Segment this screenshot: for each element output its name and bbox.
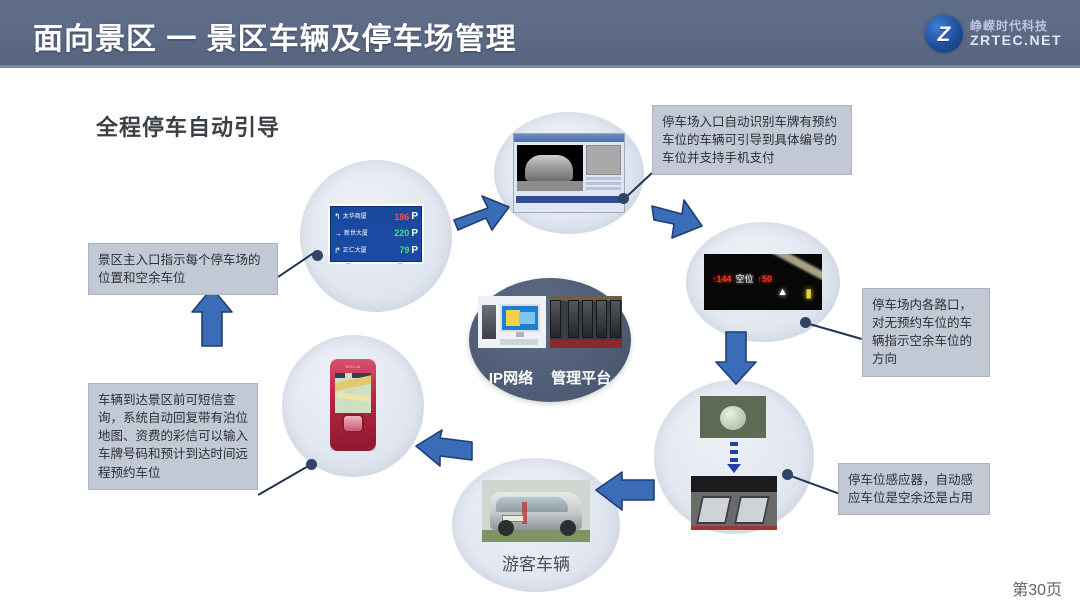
- sensor-dome-photo: [700, 396, 766, 438]
- arrow-phone-to-sign: [190, 286, 234, 348]
- ceiling-sensor-image: [700, 396, 766, 438]
- arrow-led-to-sensor: [714, 330, 758, 386]
- led-text-row: ↑144 空位 ↑50: [712, 272, 772, 285]
- pc-monitor: [500, 304, 540, 332]
- company-logo: Z 峥嵘时代科技 ZRTEC.NET: [925, 12, 1062, 56]
- floor-stripe: [691, 526, 777, 530]
- logo-company-en: ZRTEC.NET: [970, 33, 1062, 48]
- lpr-side-panel: [586, 145, 621, 191]
- hub-label-platform: 管理平台: [551, 367, 611, 388]
- lpr-body: [514, 142, 624, 194]
- sign-row-label: 太华商厦: [343, 214, 367, 220]
- center-hub: IP网络 管理平台: [469, 278, 631, 402]
- parking-slots-photo: [691, 476, 777, 530]
- parking-slot: [734, 496, 770, 524]
- page-title: 面向景区 一 景区车辆及停车场管理: [33, 14, 517, 58]
- logo-text-block: 峥嵘时代科技 ZRTEC.NET: [970, 20, 1062, 47]
- hub-label-network: IP网络: [489, 367, 533, 388]
- section-title: 全程停车自动引导: [96, 110, 280, 142]
- logo-letter: Z: [925, 15, 963, 53]
- arrow-car-to-phone: [414, 428, 474, 472]
- sign-p-icon: P: [411, 212, 418, 222]
- hub-labels: IP网络 管理平台: [469, 367, 631, 388]
- server-rack: [550, 300, 561, 338]
- leader-line-sms: [258, 465, 309, 495]
- sign-row: ↱ 正仁大厦 79 P: [334, 244, 418, 258]
- leader-dot-main-entry: [312, 250, 323, 261]
- page-number: 第30页: [1012, 576, 1062, 600]
- lpr-statusbar: [516, 196, 622, 203]
- led-left-value: ↑144: [712, 274, 732, 284]
- node-led-display: ↑144 空位 ↑50 ▲ ▮: [686, 222, 840, 342]
- leader-dot-entry: [618, 193, 629, 204]
- sign-arrow-icon: →: [334, 230, 342, 238]
- pc-keyboard: [500, 339, 538, 345]
- lpr-car-shape: [525, 155, 573, 181]
- slide-header: 面向景区 一 景区车辆及停车场管理 Z 峥嵘时代科技 ZRTEC.NET: [0, 0, 1080, 68]
- phone-screen: [335, 373, 371, 413]
- leader-dot-sensor: [782, 469, 793, 480]
- lpr-video-feed: [517, 145, 583, 191]
- node-parking-sign: ↰ 太华商厦 186 P → 新世大厦 220 P ↱ 正仁大厦 79: [300, 160, 452, 312]
- parking-slots-image: [691, 476, 777, 530]
- car-rear-window: [496, 497, 568, 512]
- callout-space-sensor: 停车位感应器，自动感应车位是空余还是占用: [838, 463, 990, 515]
- lpr-field-line: [586, 187, 621, 190]
- map-road: [337, 392, 371, 403]
- exit-sign-yellow-icon: ▮: [805, 286, 812, 300]
- sign-arrow-icon: ↱: [334, 247, 341, 255]
- logo-mark-icon: Z: [925, 15, 963, 53]
- car-wheel: [498, 520, 514, 536]
- sign-arrow-icon: ↰: [334, 213, 341, 221]
- arrow-sign-to-lpr: [452, 186, 512, 238]
- parking-sign-image: ↰ 太华商厦 186 P → 新世大厦 220 P ↱ 正仁大厦 79: [328, 204, 424, 264]
- led-display-image: ↑144 空位 ↑50 ▲ ▮: [704, 254, 822, 310]
- car-wheel: [560, 520, 576, 536]
- sign-row-value: 186: [394, 213, 409, 222]
- exit-sign-white-icon: ▲: [777, 286, 788, 298]
- server-rack: [582, 300, 593, 338]
- server-room-image: [550, 296, 622, 348]
- arrow-sensor-to-car: [594, 470, 656, 514]
- arrow-lpr-to-led: [650, 196, 706, 250]
- sign-posts: [346, 263, 406, 264]
- node-space-sensor: [654, 380, 814, 534]
- led-middle-text: 空位: [736, 272, 754, 285]
- callout-sms-reservation: 车辆到达景区前可短信查询，系统自动回复带有泊位地图、资费的彩信可以输入车牌号码和…: [88, 383, 258, 490]
- sign-row: ↰ 太华商厦 186 P: [334, 210, 418, 224]
- sign-p-icon: P: [411, 229, 418, 239]
- phone-navigation-key: [342, 414, 364, 433]
- callout-entry-recognition: 停车场入口自动识别车牌有预约车位的车辆可引导到具体编号的车位并支持手机支付: [652, 105, 852, 175]
- server-rack: [596, 300, 607, 338]
- lpr-field-line: [586, 182, 621, 185]
- lpr-plate-crop: [586, 145, 621, 175]
- sign-row: → 新世大厦 220 P: [334, 227, 418, 241]
- sensor-dome-icon: [720, 406, 746, 430]
- lpr-field-line: [586, 177, 621, 180]
- phone-brand-label: NOKIA: [330, 364, 376, 369]
- sign-board: ↰ 太华商厦 186 P → 新世大厦 220 P ↱ 正仁大厦 79: [330, 206, 422, 262]
- led-photo: ↑144 空位 ↑50 ▲ ▮: [704, 254, 822, 310]
- server-rack: [568, 300, 579, 338]
- sign-row-value: 79: [399, 246, 409, 255]
- node-mobile-phone: NOKIA: [282, 335, 424, 477]
- callout-inner-road-guidance: 停车场内各路口，对无预约车位的车辆指示空余车位的方向: [862, 288, 990, 377]
- parking-slot: [696, 496, 732, 524]
- lpr-titlebar: [514, 134, 624, 142]
- leader-line-inner: [806, 322, 862, 340]
- sign-row-value: 220: [394, 229, 409, 238]
- server-rack: [610, 300, 621, 338]
- sign-row-label: 正仁大厦: [343, 248, 367, 254]
- pc-monitor-stand: [516, 332, 524, 337]
- led-right-value: ↑50: [758, 274, 773, 284]
- lpr-window-image: [513, 133, 625, 213]
- parking-sign-photo: ↰ 太华商厦 186 P → 新世大厦 220 P ↱ 正仁大厦 79: [328, 204, 424, 264]
- garage-wall: [691, 476, 777, 492]
- lpr-photo: [513, 133, 625, 213]
- sensor-signal-arrowhead-icon: [727, 464, 741, 473]
- car-image: [482, 480, 590, 542]
- car-photo: [482, 480, 590, 542]
- phone-photo: NOKIA: [330, 359, 376, 451]
- hub-images: [478, 296, 622, 348]
- ceiling-light: [768, 254, 822, 280]
- server-floor: [550, 340, 622, 348]
- lpr-road: [517, 181, 583, 191]
- sign-row-label: 新世大厦: [344, 231, 368, 237]
- car-caption: 游客车辆: [452, 550, 620, 575]
- sign-p-icon: P: [411, 246, 418, 256]
- leader-dot-sms: [306, 459, 317, 470]
- leader-dot-inner: [800, 317, 811, 328]
- slide-canvas: 面向景区 一 景区车辆及停车场管理 Z 峥嵘时代科技 ZRTEC.NET 全程停…: [0, 0, 1080, 608]
- pc-tower: [482, 305, 496, 339]
- callout-main-entrance: 景区主入口指示每个停车场的位置和空余车位: [88, 243, 278, 295]
- phone-image: NOKIA: [330, 359, 376, 451]
- node-lpr-software: [494, 112, 644, 234]
- workstation-image: [478, 296, 546, 348]
